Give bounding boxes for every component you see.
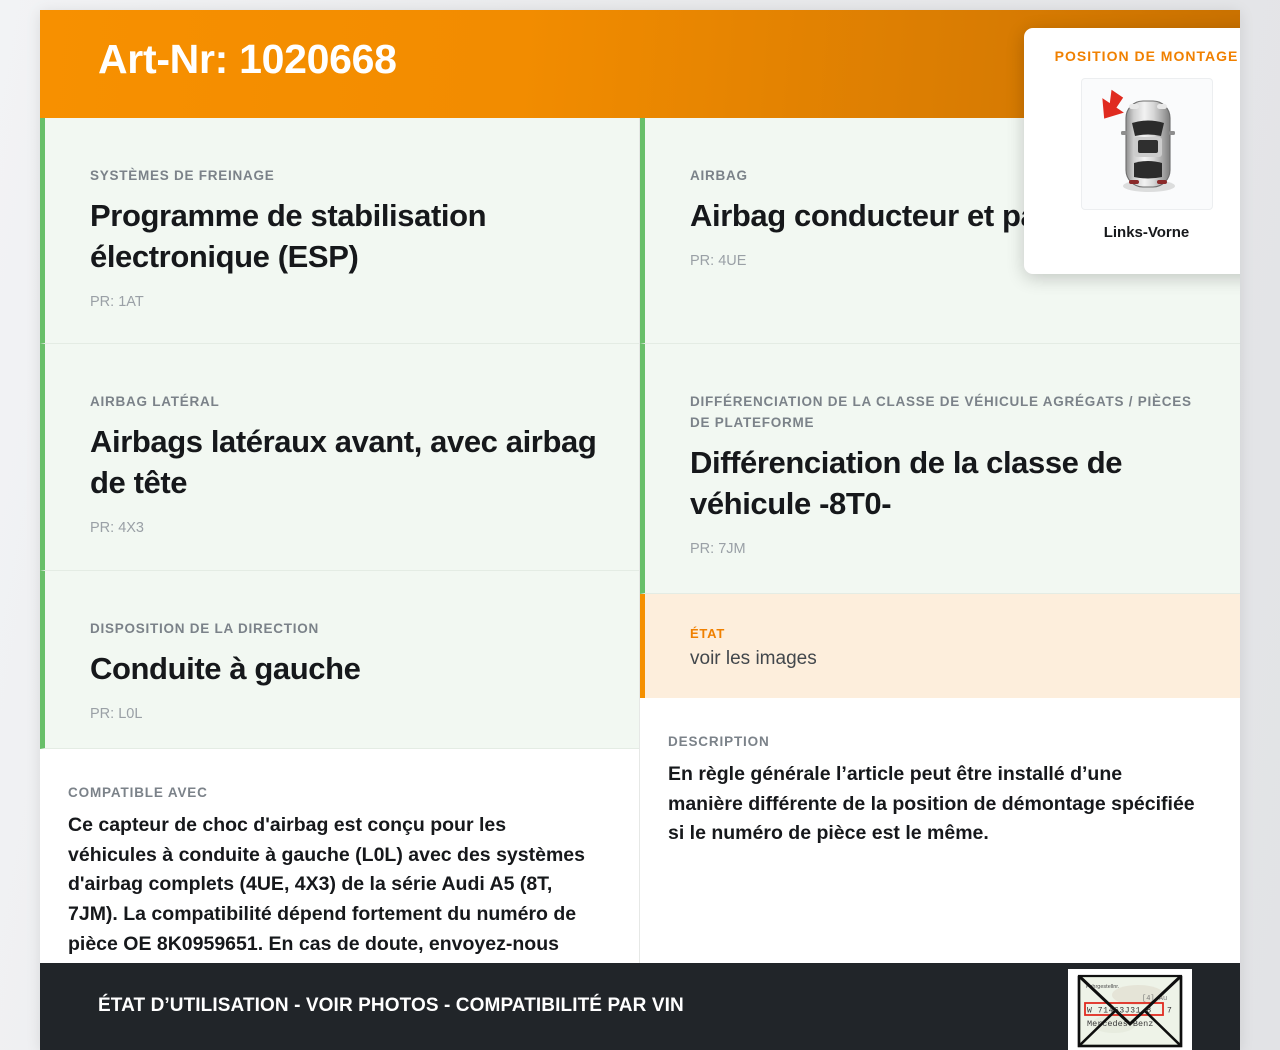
left-column: SYSTÈMES DE FREINAGE Programme de stabil… [40,118,640,963]
spec-kicker: SYSTÈMES DE FREINAGE [90,166,605,187]
spec-pr-code: PR: 7JM [690,541,1206,557]
mounting-position-card: POSITION DE MONTAGE [1024,28,1240,274]
spec-card-braking: SYSTÈMES DE FREINAGE Programme de stabil… [40,118,639,344]
mounting-position-title: POSITION DE MONTAGE [1024,48,1240,64]
spec-title: Différenciation de la classe de véhicule… [690,443,1206,525]
car-top-view-icon [1082,79,1214,211]
spec-pr-code: PR: L0L [90,706,605,722]
spec-pr-code: PR: 4X3 [90,520,605,536]
spec-card-side-airbag: AIRBAG LATÉRAL Airbags latéraux avant, a… [40,344,639,571]
spec-kicker: DIFFÉRENCIATION DE LA CLASSE DE VÉHICULE… [690,392,1206,434]
page-title: Art-Nr: 1020668 [98,36,397,83]
spec-title: Conduite à gauche [90,649,605,690]
spec-title: Airbags latéraux avant, avec airbag de t… [90,422,605,504]
mounting-position-thumbnail[interactable] [1081,78,1213,210]
state-kicker: ÉTAT [690,626,1206,641]
vin-envelope-badge[interactable]: Fahrgestellnr. [4] Au W 71463J31 8 7 Mer… [1068,969,1192,1050]
product-sheet: Art-Nr: 1020668 SYSTÈMES DE FREINAGE Pro… [40,10,1240,1050]
description-block: DESCRIPTION En règle générale l’article … [640,698,1240,879]
spec-card-steering: DISPOSITION DE LA DIRECTION Conduite à g… [40,571,639,749]
spec-kicker: DISPOSITION DE LA DIRECTION [90,619,605,640]
position-arrow-icon [1093,88,1130,126]
spec-card-vehicle-class: DIFFÉRENCIATION DE LA CLASSE DE VÉHICULE… [640,344,1240,594]
compatible-kicker: COMPATIBLE AVEC [68,785,599,800]
svg-text:7: 7 [1167,1007,1172,1016]
spec-title: Programme de stabilisation électronique … [90,196,605,278]
spec-pr-code: PR: 1AT [90,294,605,310]
state-value: voir les images [690,648,1206,670]
mounting-position-label: Links-Vorne [1024,224,1240,241]
footer-text: ÉTAT D’UTILISATION - VOIR PHOTOS - COMPA… [98,995,684,1017]
description-text: En règle générale l’article peut être in… [668,760,1200,849]
page-footer: ÉTAT D’UTILISATION - VOIR PHOTOS - COMPA… [40,963,1240,1050]
state-card: ÉTAT voir les images [640,594,1240,698]
description-kicker: DESCRIPTION [668,734,1200,749]
envelope-with-vehicle-document-icon: Fahrgestellnr. [4] Au W 71463J31 8 7 Mer… [1068,969,1192,1050]
spec-kicker: AIRBAG LATÉRAL [90,392,605,413]
